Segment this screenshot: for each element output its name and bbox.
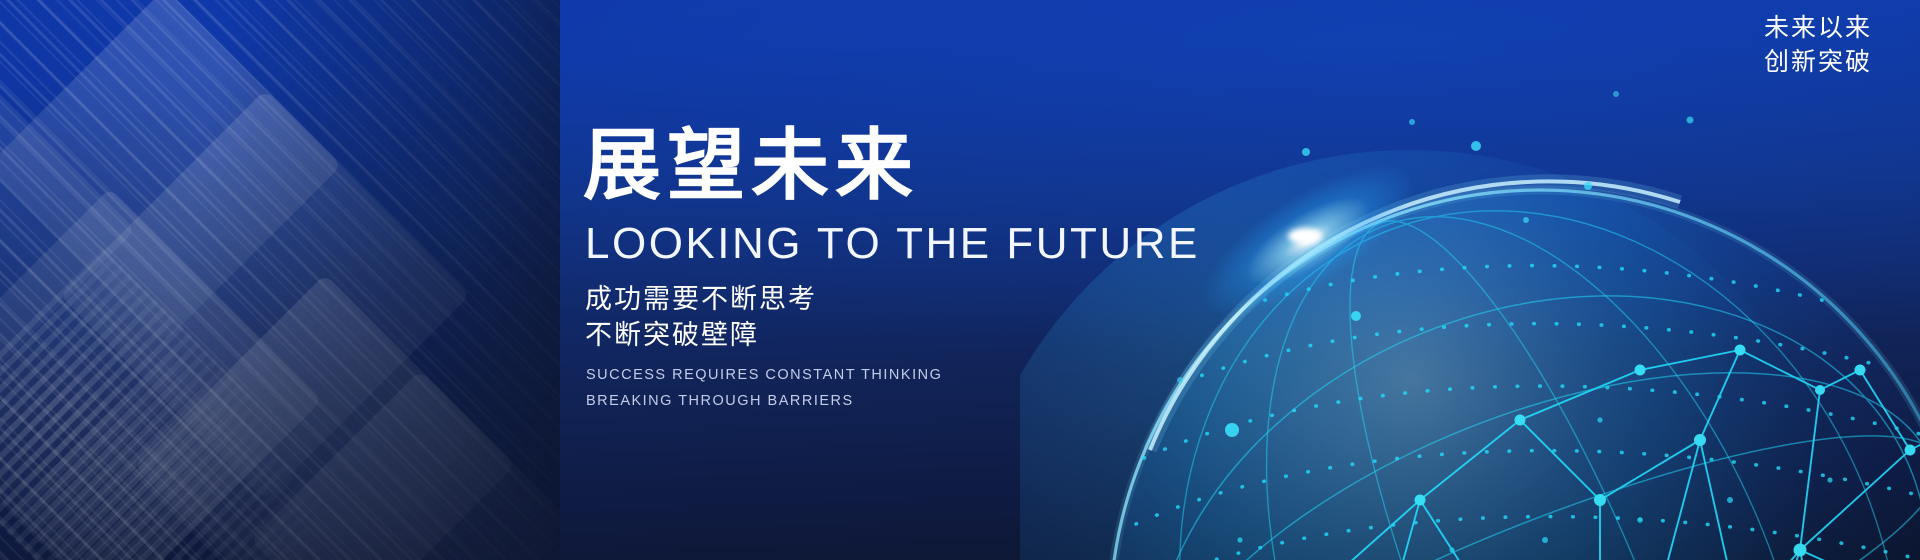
subtitle-chinese-line-1: 成功需要不断思考 [585,282,1203,318]
subtitle-english-line-2: BREAKING THROUGH BARRIERS [586,389,1203,414]
corner-slogan: 未来以来 创新突破 [1764,12,1872,80]
headline-english: LOOKING TO THE FUTURE [585,222,1203,266]
corner-slogan-line-2: 创新突破 [1764,46,1872,80]
subtitle-english: SUCCESS REQUIRES CONSTANT THINKING BREAK… [586,363,1203,414]
headline-block: 展望未来 LOOKING TO THE FUTURE 成功需要不断思考 不断突破… [583,126,1203,414]
corner-slogan-line-1: 未来以来 [1764,12,1872,46]
headline-chinese: 展望未来 [583,126,1203,204]
subtitle-chinese-line-2: 不断突破壁障 [585,318,1203,354]
promo-banner: 展望未来 LOOKING TO THE FUTURE 成功需要不断思考 不断突破… [0,0,1920,560]
subtitle-english-line-1: SUCCESS REQUIRES CONSTANT THINKING [586,363,1203,388]
subtitle-chinese: 成功需要不断思考 不断突破壁障 [585,282,1203,353]
